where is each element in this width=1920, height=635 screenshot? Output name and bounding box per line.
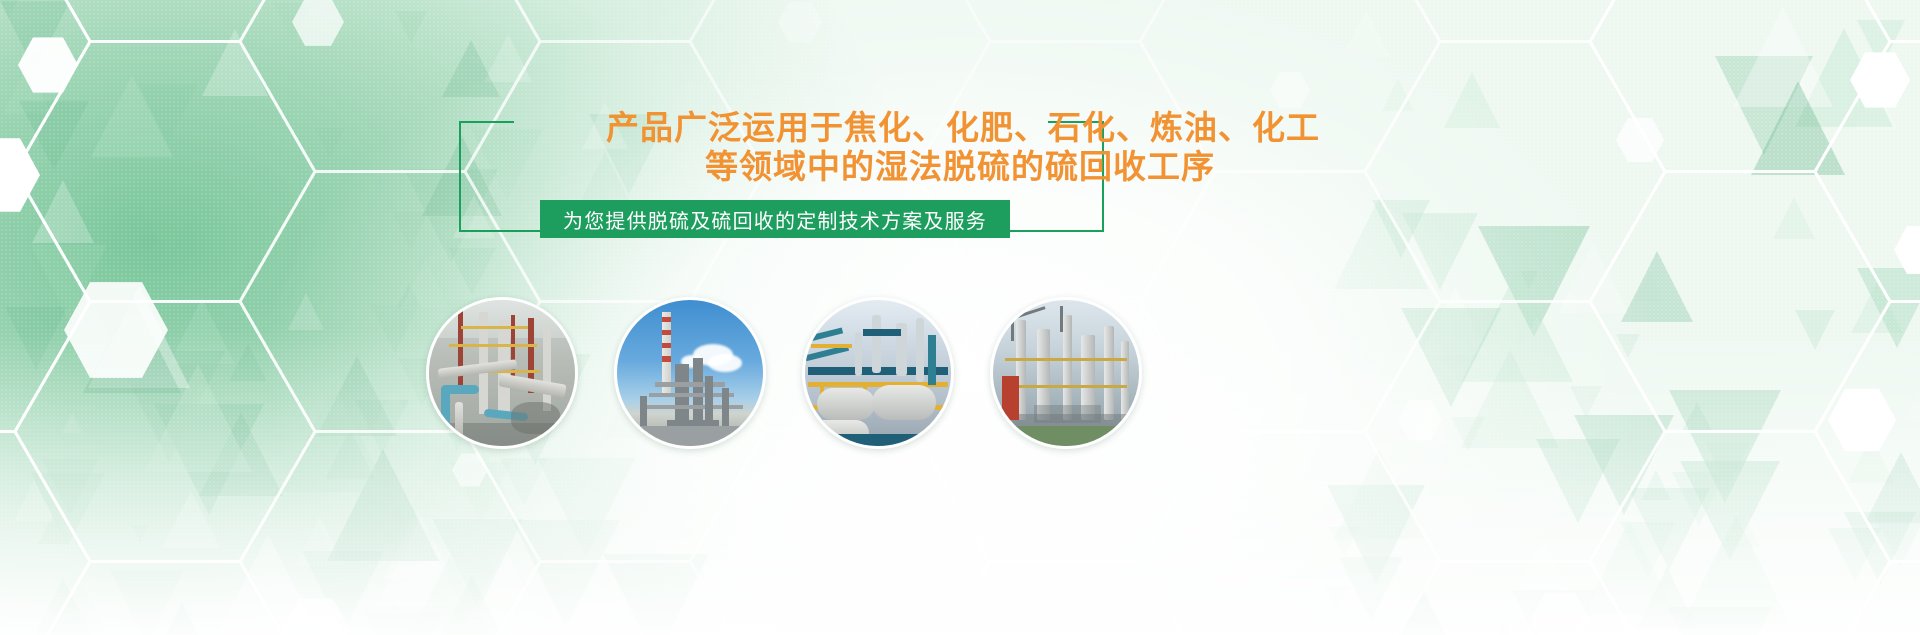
gallery-item-refinery-piping[interactable]: [426, 297, 578, 449]
hero-banner: 产品广泛运用于焦化、化肥、石化、炼油、化工 等领域中的湿法脱硫的硫回收工序 为您…: [0, 0, 1920, 635]
distillation-columns-photo: [993, 300, 1139, 446]
gallery-item-distillation-columns[interactable]: [990, 297, 1142, 449]
photo-gallery: [0, 0, 1920, 635]
gallery-item-chimney-plant[interactable]: [614, 297, 766, 449]
gallery-item-storage-tanks[interactable]: [802, 297, 954, 449]
refinery-piping-photo: [429, 300, 575, 446]
storage-tanks-photo: [805, 300, 951, 446]
chimney-plant-photo: [617, 300, 763, 446]
